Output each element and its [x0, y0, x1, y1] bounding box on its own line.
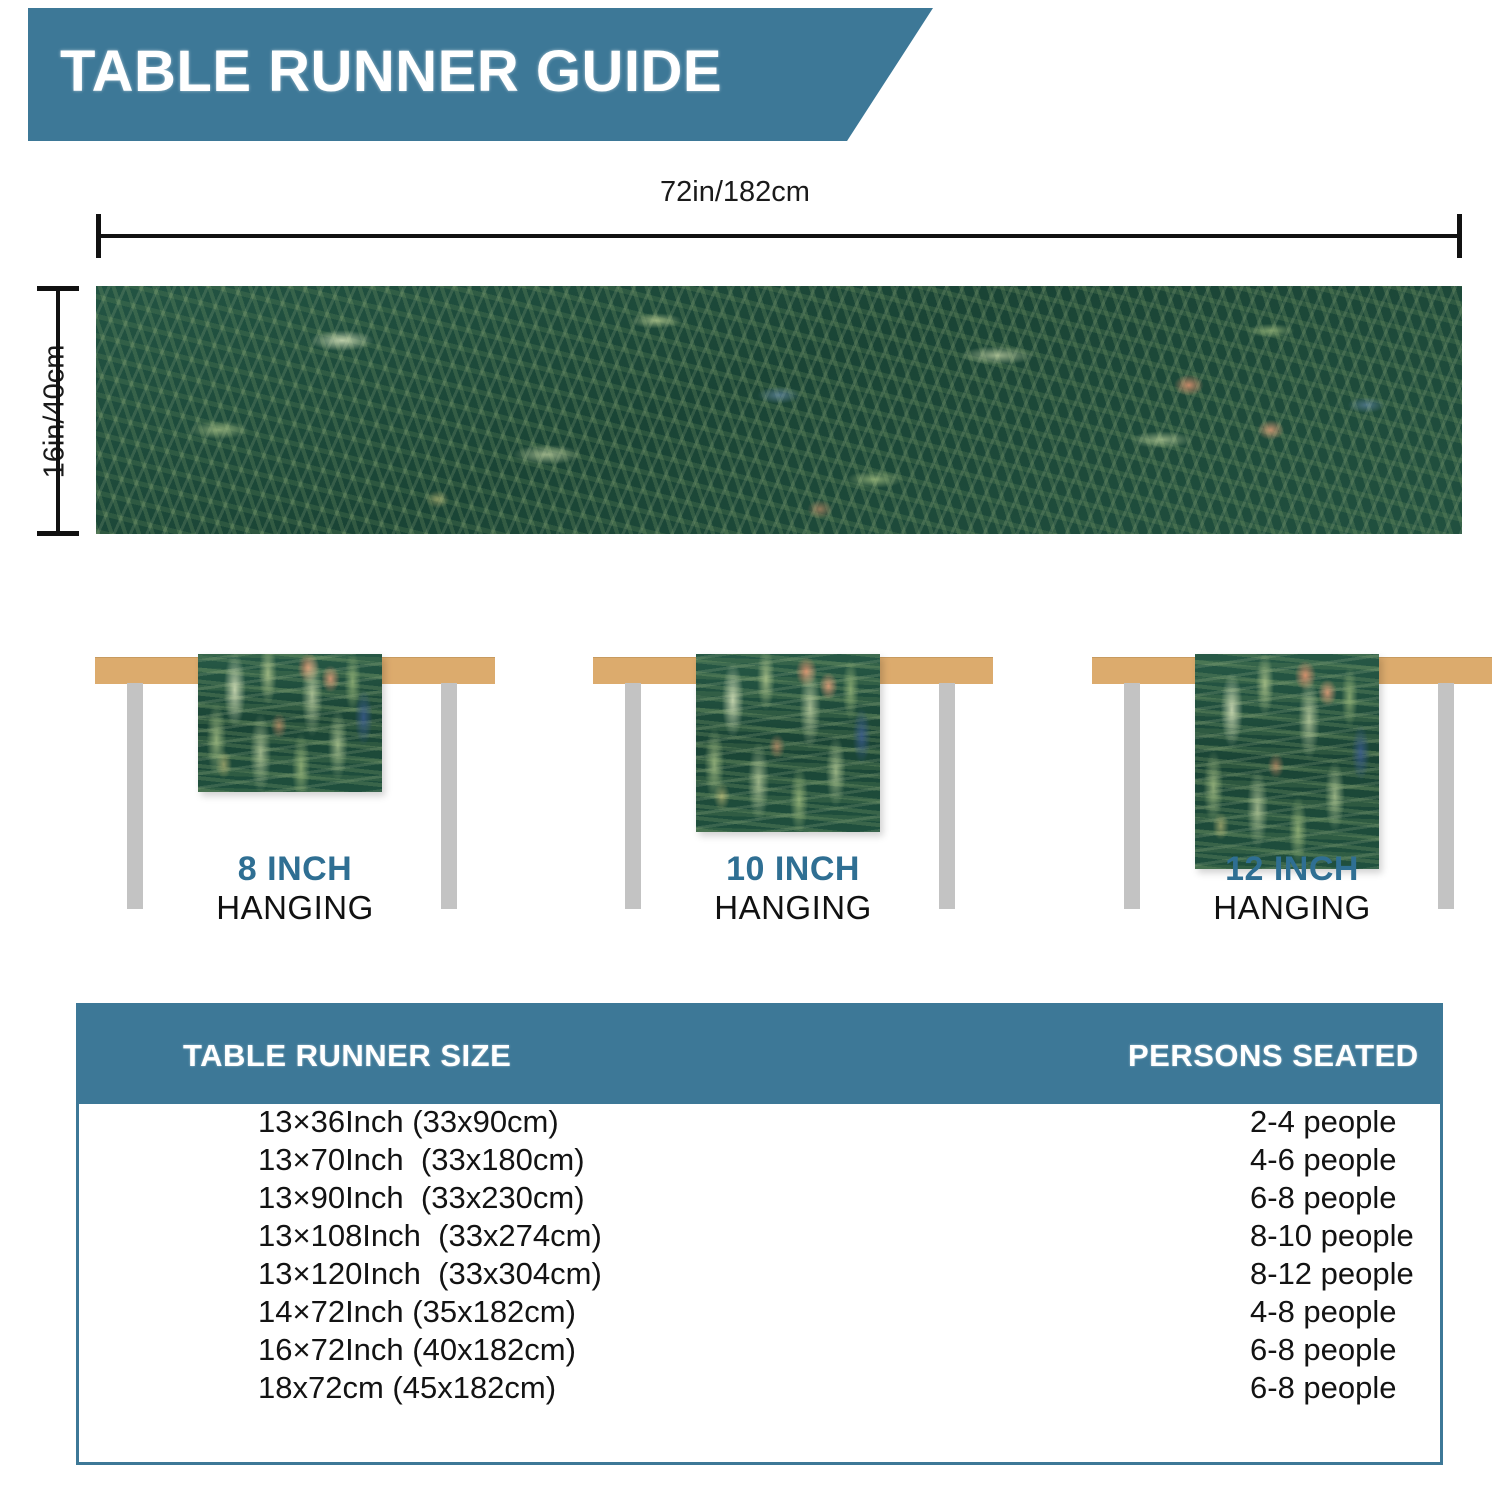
height-dimension-line: [56, 288, 60, 536]
cell-runner-size: 13×108Inch (33x274cm): [258, 1218, 602, 1254]
height-dimension-label: 16in/40cm: [39, 322, 72, 502]
cell-runner-size: 13×90Inch (33x230cm): [258, 1180, 585, 1216]
table-row: 18x72cm (45x182cm)6-8 people: [79, 1370, 1440, 1408]
cell-persons-seated: 8-12 people: [1250, 1256, 1414, 1292]
width-dimension-line: [96, 234, 1462, 238]
hanging-label-group: 10 INCH HANGING: [593, 850, 993, 927]
hanging-word-label: HANGING: [1092, 889, 1492, 927]
cell-runner-size: 14×72Inch (35x182cm): [258, 1294, 576, 1330]
hanging-label-group: 8 INCH HANGING: [95, 850, 495, 927]
cell-runner-size: 13×70Inch (33x180cm): [258, 1142, 585, 1178]
width-dimension-cap-left: [96, 214, 101, 258]
height-dimension-cap-bottom: [37, 531, 79, 536]
table-runner-product-image: [96, 286, 1462, 534]
runner-drape: [198, 654, 382, 792]
cell-runner-size: 16×72Inch (40x182cm): [258, 1332, 576, 1368]
table-row: 13×120Inch (33x304cm)8-12 people: [79, 1256, 1440, 1294]
table-body: 13×36Inch (33x90cm)2-4 people13×70Inch (…: [79, 1104, 1440, 1408]
hanging-label-group: 12 INCH HANGING: [1092, 850, 1492, 927]
cell-persons-seated: 4-6 people: [1250, 1142, 1397, 1178]
hanging-inch-label: 10 INCH: [593, 850, 993, 889]
hanging-example-12-inch: 12 INCH HANGING: [1092, 630, 1492, 930]
cell-runner-size: 13×120Inch (33x304cm): [258, 1256, 602, 1292]
column-header-size: TABLE RUNNER SIZE: [183, 1038, 511, 1074]
table-row: 13×108Inch (33x274cm)8-10 people: [79, 1218, 1440, 1256]
table-header-row: TABLE RUNNER SIZE PERSONS SEATED: [79, 1006, 1440, 1104]
cell-persons-seated: 2-4 people: [1250, 1104, 1397, 1140]
table-row: 13×90Inch (33x230cm)6-8 people: [79, 1180, 1440, 1218]
column-header-persons: PERSONS SEATED: [1128, 1038, 1419, 1074]
table-row: 16×72Inch (40x182cm)6-8 people: [79, 1332, 1440, 1370]
cell-persons-seated: 6-8 people: [1250, 1370, 1397, 1406]
height-dimension-cap-top: [37, 286, 79, 291]
hanging-word-label: HANGING: [593, 889, 993, 927]
hanging-inch-label: 12 INCH: [1092, 850, 1492, 889]
cell-persons-seated: 8-10 people: [1250, 1218, 1414, 1254]
table-row: 14×72Inch (35x182cm)4-8 people: [79, 1294, 1440, 1332]
hanging-example-8-inch: 8 INCH HANGING: [95, 630, 495, 930]
hanging-example-10-inch: 10 INCH HANGING: [593, 630, 993, 930]
width-dimension-label: 72in/182cm: [660, 176, 810, 209]
table-row: 13×70Inch (33x180cm)4-6 people: [79, 1142, 1440, 1180]
cell-persons-seated: 6-8 people: [1250, 1180, 1397, 1216]
cell-runner-size: 13×36Inch (33x90cm): [258, 1104, 559, 1140]
hanging-word-label: HANGING: [95, 889, 495, 927]
cell-persons-seated: 6-8 people: [1250, 1332, 1397, 1368]
hanging-inch-label: 8 INCH: [95, 850, 495, 889]
width-dimension-cap-right: [1457, 214, 1462, 258]
page-title: TABLE RUNNER GUIDE: [60, 38, 722, 105]
size-reference-table: TABLE RUNNER SIZE PERSONS SEATED 13×36In…: [76, 1003, 1443, 1465]
cell-persons-seated: 4-8 people: [1250, 1294, 1397, 1330]
runner-drape: [1195, 654, 1379, 869]
table-row: 13×36Inch (33x90cm)2-4 people: [79, 1104, 1440, 1142]
cell-runner-size: 18x72cm (45x182cm): [258, 1370, 556, 1406]
runner-drape: [696, 654, 880, 832]
